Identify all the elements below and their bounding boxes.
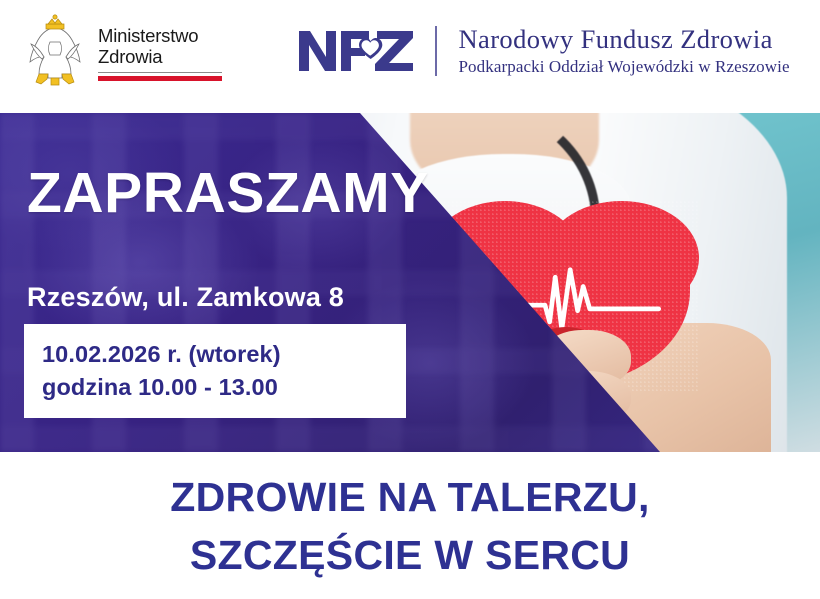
date-time-box: 10.02.2026 r. (wtorek) godzina 10.00 - 1… <box>24 324 406 418</box>
headline-line-1: ZDROWIE NA TALERZU, <box>170 468 649 526</box>
address-text: Rzeszów, ul. Zamkowa 8 <box>27 282 344 313</box>
banner-section: ZAPRASZAMY Rzeszów, ul. Zamkowa 8 10.02.… <box>0 113 820 452</box>
nfz-heart-logo-icon <box>297 25 415 77</box>
headline-line-2: SZCZĘŚCIE W SERCU <box>190 526 630 584</box>
ministry-gray-rule <box>98 72 222 74</box>
ministry-rule-group <box>98 72 222 82</box>
nfz-logo-block: Narodowy Fundusz Zdrowia Podkarpacki Odd… <box>297 25 790 77</box>
ministry-of-health-logo: Ministerstwo Zdrowia <box>22 12 222 92</box>
ministry-line-1: Ministerstwo <box>98 25 222 46</box>
time-line: godzina 10.00 - 13.00 <box>42 371 406 404</box>
nfz-branch-name: Podkarpacki Oddział Wojewódzki w Rzeszow… <box>459 56 790 77</box>
footer-section: ZDROWIE NA TALERZU, SZCZĘŚCIE W SERCU <box>0 452 820 599</box>
nfz-text-block: Narodowy Fundusz Zdrowia Podkarpacki Odd… <box>459 25 790 77</box>
ministry-line-2: Zdrowia <box>98 46 222 67</box>
nfz-full-name: Narodowy Fundusz Zdrowia <box>459 25 790 54</box>
header-bar: Ministerstwo Zdrowia Narodowy <box>0 0 820 113</box>
ministry-wordmark: Ministerstwo Zdrowia <box>98 12 222 81</box>
polish-eagle-emblem-icon <box>22 12 88 92</box>
nfz-divider <box>435 26 437 76</box>
poster: Ministerstwo Zdrowia Narodowy <box>0 0 820 599</box>
invite-title: ZAPRASZAMY <box>27 165 429 222</box>
ministry-red-rule <box>98 76 222 81</box>
date-line: 10.02.2026 r. (wtorek) <box>42 338 406 371</box>
